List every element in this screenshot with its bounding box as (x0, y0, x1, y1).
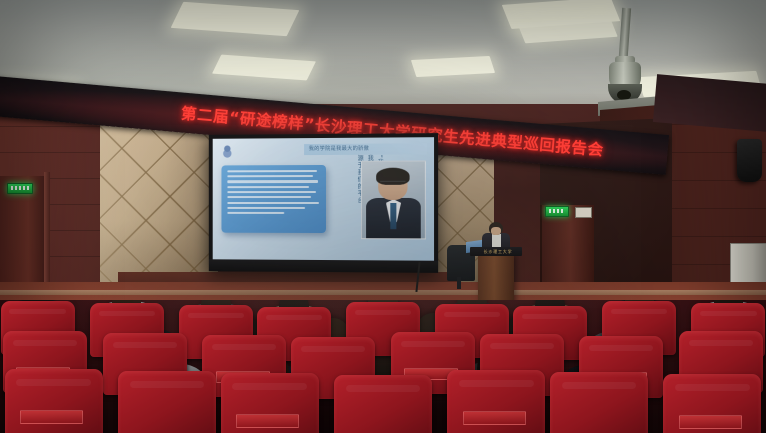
stage-edge-trim (0, 290, 766, 295)
audience-seat[interactable] (221, 373, 319, 433)
slide-text-line (227, 191, 316, 193)
acoustic-panel-left (100, 116, 218, 291)
slide-text-box (221, 165, 326, 233)
audience-seat[interactable] (550, 372, 648, 433)
seat-number-tag (236, 414, 299, 428)
projection-screen[interactable]: 我的学院是我最大的骄傲 “我们现在所拥有的，除了我们的个人努力外，都来源于我们的… (209, 133, 438, 273)
audience-seat[interactable] (5, 369, 103, 433)
slide-text-line (227, 180, 317, 182)
podium-nameplate: 长沙理工大学 (481, 249, 515, 254)
stage-chair-leg (457, 277, 461, 289)
exit-sign-icon-right (545, 206, 569, 217)
slide-portrait-photo (361, 161, 426, 240)
slide-text-line (227, 207, 305, 209)
portrait-tie (390, 203, 396, 229)
slide-text-line (227, 170, 316, 172)
slide-text-line (227, 202, 318, 204)
screen-bottom-frame (209, 259, 438, 273)
slide-text-line (227, 196, 311, 198)
audience-area (0, 300, 766, 433)
wall-speaker-icon (737, 139, 762, 182)
projected-slide: 我的学院是我最大的骄傲 “我们现在所拥有的，除了我们的个人努力外，都来源于我们的… (213, 137, 434, 261)
auditorium-screenshot: 第二届“研途榜样”长沙理工大学研究生先进典型巡回报告会 我的学院是我最大的骄傲 … (0, 0, 766, 433)
seat-number-tag (463, 411, 526, 425)
speaker-shirt (492, 234, 501, 248)
slide-title: 我的学院是我最大的骄傲 (309, 144, 430, 152)
slide-text-line (227, 212, 284, 214)
seat-number-tag (20, 410, 83, 424)
speaker-face (491, 227, 501, 235)
audience-seat[interactable] (118, 371, 216, 433)
audience-seat[interactable] (334, 375, 432, 433)
slide-text-line (227, 186, 309, 188)
seat-number-tag (679, 415, 742, 429)
exit-sign-icon-left (7, 183, 33, 194)
fire-alarm-box-icon[interactable] (575, 207, 592, 218)
audience-seat[interactable] (447, 370, 545, 433)
dome-camera-lens (617, 90, 631, 100)
audience-seat[interactable] (663, 374, 761, 433)
slide-logo-icon (220, 142, 236, 159)
slide-text-line (227, 175, 313, 177)
portrait-glasses-icon (380, 181, 405, 187)
